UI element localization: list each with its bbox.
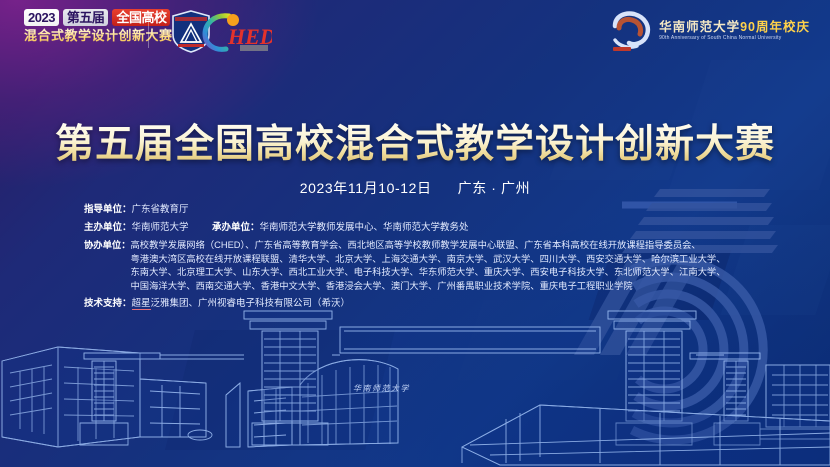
- logo-line2: 混合式教学设计创新大赛: [24, 28, 173, 43]
- poster-canvas: 2023 第五届 全国高校 混合式教学设计创新大赛: [0, 0, 830, 467]
- left-wing: [140, 379, 212, 440]
- scnu-wave-icon: [609, 10, 653, 52]
- coorganizer-lines: 高校教学发展网络（CHED）、广东省高等教育学会、西北地区高等学校教师教学发展中…: [131, 239, 726, 293]
- stadium-structure: [462, 405, 830, 465]
- cohost-unit: 承办单位： 华南师范大学教师发展中心、华南师范大学教务处: [212, 221, 469, 234]
- tech-support-rest: 泛雅集团、广州视睿电子科技有限公司（希沃）: [151, 298, 351, 309]
- left-building: [2, 347, 140, 447]
- event-date: 2023年11月10-12日: [300, 180, 432, 196]
- host-unit: 主办单位： 华南师范大学: [84, 221, 212, 234]
- gate-inscription: 华南师范大学: [353, 383, 410, 394]
- logo-line1-tail: 全国高校: [112, 9, 170, 26]
- logo-edition: 第五届: [63, 9, 109, 26]
- host-unit-label: 主办单位：: [84, 221, 132, 234]
- scnu-anniversary: 90周年校庆: [740, 20, 810, 34]
- coorganizer-line: 高校教学发展网络（CHED）、广东省高等教育学会、西北地区高等学校教师教学发展中…: [131, 239, 726, 253]
- poster-title: 第五届全国高校混合式教学设计创新大赛: [0, 122, 830, 168]
- guide-unit-row: 指导单位： 广东省教育厅: [84, 203, 764, 216]
- guide-unit-label: 指导单位：: [84, 203, 132, 216]
- event-location: 广东 · 广州: [458, 180, 531, 196]
- host-cohost-row: 主办单位： 华南师范大学 承办单位： 华南师范大学教师发展中心、华南师范大学教务…: [84, 221, 764, 234]
- campus-gate: [80, 311, 760, 445]
- tech-support-label: 技术支持：: [84, 297, 132, 310]
- scnu-90th-logo: 华南师范大学90周年校庆 90th Anniversary of South C…: [609, 10, 810, 52]
- poster-header: 2023 第五届 全国高校 混合式教学设计创新大赛: [0, 0, 830, 62]
- coorganizer-line: 粤港澳大湾区高校在线开放课程联盟、清华大学、北京大学、上海交通大学、南京大学、武…: [131, 253, 726, 267]
- campus-line-art: [0, 287, 830, 467]
- scnu-name-cn: 华南师范大学: [659, 20, 740, 34]
- scnu-name: 华南师范大学90周年校庆: [659, 21, 810, 34]
- scnu-name-en: 90th Anniversary of South China Normal U…: [659, 36, 810, 41]
- organizer-info: 指导单位： 广东省教育厅 主办单位： 华南师范大学 承办单位： 华南师范大学教师…: [84, 203, 764, 310]
- competition-logo: 2023 第五届 全国高校 混合式教学设计创新大赛: [24, 9, 173, 43]
- coorganizer-row: 协办单位： 高校教学发展网络（CHED）、广东省高等教育学会、西北地区高等学校教…: [84, 239, 764, 293]
- coorganizer-label: 协办单位：: [84, 239, 131, 293]
- cohost-unit-label: 承办单位：: [212, 221, 260, 234]
- dome-building: [226, 360, 398, 447]
- tech-support-value: 超星泛雅集团、广州视睿电子科技有限公司（希沃）: [132, 297, 351, 310]
- logo-year: 2023: [24, 9, 59, 26]
- bg-facet: [457, 300, 643, 380]
- cohost-unit-value: 华南师范大学教师发展中心、华南师范大学教务处: [260, 221, 469, 234]
- host-unit-value: 华南师范大学: [132, 221, 189, 234]
- header-divider: [148, 12, 149, 48]
- guide-unit-value: 广东省教育厅: [132, 203, 189, 216]
- tech-support-highlight: 超星: [132, 298, 151, 310]
- coorganizer-line: 东南大学、北京理工大学、山东大学、西北工业大学、电子科技大学、华东师范大学、重庆…: [131, 266, 726, 280]
- right-building: [760, 365, 830, 439]
- ched-logo: HED: [200, 10, 272, 54]
- coorganizer-line: 中国海洋大学、西南交通大学、香港中文大学、香港浸会大学、澳门大学、广州番禺职业技…: [131, 280, 726, 294]
- poster-subtitle: 2023年11月10-12日广东 · 广州: [0, 178, 830, 198]
- tech-support-row: 技术支持： 超星泛雅集团、广州视睿电子科技有限公司（希沃）: [84, 297, 764, 310]
